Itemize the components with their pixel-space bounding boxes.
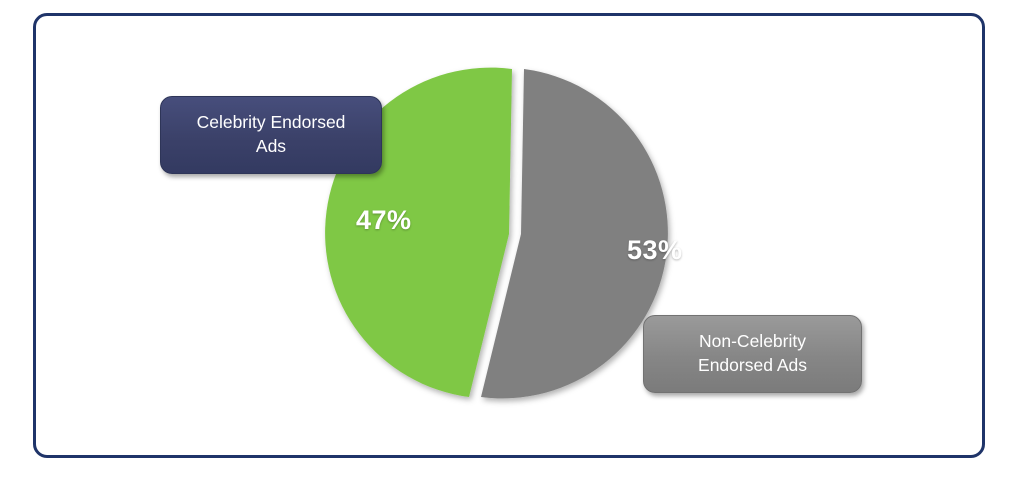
callout-label-celebrity-line2: Ads (197, 135, 346, 159)
callout-label-celebrity[interactable]: Celebrity Endorsed Ads (160, 96, 382, 174)
pie-chart: 47% 53% Celebrity Endorsed Ads Non-Celeb… (0, 0, 1024, 501)
callout-label-non-celebrity-line2: Endorsed Ads (698, 354, 807, 378)
callout-label-celebrity-line1: Celebrity Endorsed (197, 111, 346, 135)
pie-data-label-non-celebrity: 53% (627, 235, 683, 266)
pie-chart-svg (0, 0, 1024, 501)
callout-label-non-celebrity-line1: Non-Celebrity (698, 330, 807, 354)
pie-data-label-celebrity: 47% (356, 205, 412, 236)
chart-canvas: 47% 53% Celebrity Endorsed Ads Non-Celeb… (0, 0, 1024, 501)
callout-label-non-celebrity[interactable]: Non-Celebrity Endorsed Ads (643, 315, 862, 393)
